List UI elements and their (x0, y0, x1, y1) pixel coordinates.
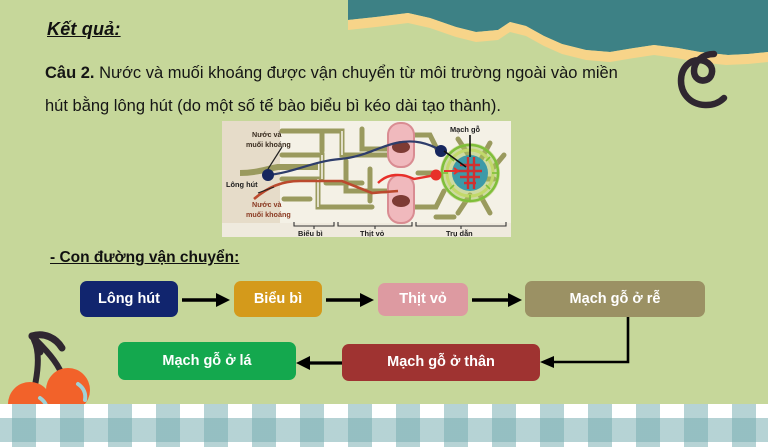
transport-path-heading: - Con đường vận chuyển: (50, 249, 239, 267)
question-label: Câu 2. (45, 64, 95, 82)
arrow-mach-go-o-than-to-mach-go-o-la (294, 352, 346, 374)
question-paragraph: Câu 2. Nước và muối khoáng được vận chuy… (45, 57, 645, 123)
arrow-thit-vo-to-mach-go-o-re (468, 289, 528, 311)
question-text: Nước và muối khoáng được vận chuyển từ m… (45, 64, 618, 115)
arrow-bieu-bi-to-thit-vo (322, 289, 380, 311)
flow-node-long-hut[interactable]: Lông hút (80, 281, 178, 317)
svg-text:Mạch gỗ: Mạch gỗ (450, 125, 480, 134)
svg-text:Trụ dẫn: Trụ dẫn (446, 229, 473, 237)
flow-node-bieu-bi[interactable]: Biểu bì (234, 281, 322, 317)
svg-text:Nước và: Nước và (252, 130, 282, 139)
root-absorption-diagram: Nước và muối khoáng Lông hút Nước và muố… (222, 121, 511, 237)
svg-text:Lông hút: Lông hút (226, 180, 258, 189)
gingham-strip-decoration (0, 404, 768, 447)
curly-swirl-icon (672, 44, 742, 116)
svg-text:Nước và: Nước và (252, 200, 282, 209)
flow-node-mach-go-o-than[interactable]: Mạch gỗ ở thân (342, 344, 540, 381)
slide-canvas: Kết quả: Câu 2. Nước và muối khoáng được… (0, 0, 768, 447)
flow-node-mach-go-o-re[interactable]: Mạch gỗ ở rễ (525, 281, 705, 317)
svg-text:muối khoáng: muối khoáng (246, 210, 291, 219)
page-title: Kết quả: (47, 19, 121, 40)
flow-node-thit-vo[interactable]: Thịt vỏ (378, 283, 468, 316)
svg-text:muối khoáng: muối khoáng (246, 140, 291, 149)
svg-text:Thịt vỏ: Thịt vỏ (360, 229, 385, 237)
svg-text:Biểu bì: Biểu bì (298, 229, 323, 237)
arrow-mach-go-o-re-to-mach-go-o-than (530, 316, 640, 374)
arrow-long-hut-to-bieu-bi (178, 289, 236, 311)
flow-node-mach-go-o-la[interactable]: Mạch gỗ ở lá (118, 342, 296, 380)
